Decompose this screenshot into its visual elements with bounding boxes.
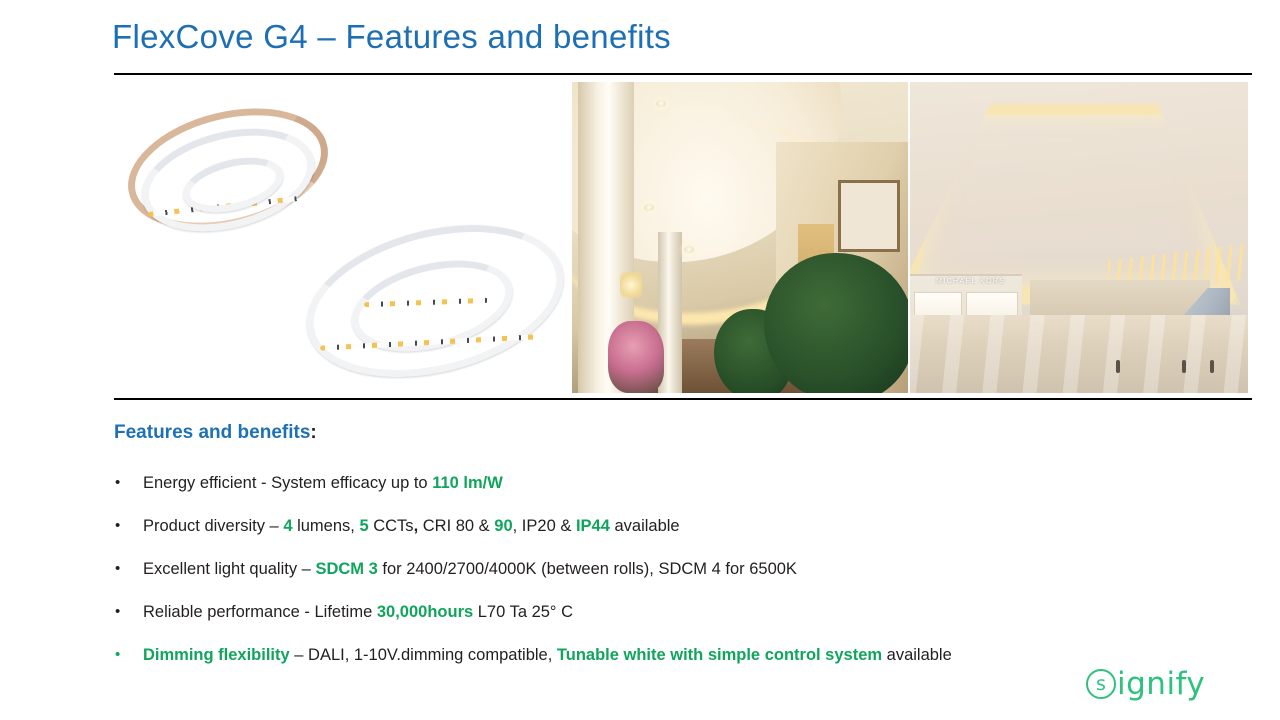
bullet-marker-icon: •: [115, 647, 120, 662]
signify-s-circle-icon: s: [1086, 669, 1116, 699]
feature-bullet-segment: Reliable performance - Lifetime: [143, 603, 377, 621]
feature-bullet-item: •Energy efficient - System efficacy up t…: [110, 474, 1240, 517]
page-title: FlexCove G4 – Features and benefits: [112, 18, 671, 56]
features-bullet-list: •Energy efficient - System efficacy up t…: [110, 474, 1240, 689]
feature-bullet-segment: 110 lm/W: [432, 474, 503, 492]
feature-bullet-segment: available: [610, 517, 680, 535]
feature-bullet-segment: Product diversity –: [143, 517, 283, 535]
features-heading-colon: :: [310, 422, 316, 443]
bullet-marker-icon: •: [115, 475, 120, 490]
feature-bullet-segment: – DALI, 1-10V.dimming compatible,: [290, 646, 557, 664]
feature-bullet-segment: 4: [283, 517, 292, 535]
feature-bullet-segment: Tunable white with simple control system: [557, 646, 882, 664]
feature-bullet-segment: , IP20 &: [513, 517, 576, 535]
feature-bullet-segment: SDCM 3: [315, 560, 377, 578]
feature-bullet-segment: 30,000hours: [377, 603, 473, 621]
feature-bullet-item: •Dimming flexibility – DALI, 1-10V.dimmi…: [110, 646, 1240, 689]
bullet-marker-icon: •: [115, 518, 120, 533]
feature-bullet-segment: CCTs: [369, 517, 414, 535]
mall-signage-label: MICHAEL KORS: [936, 278, 1005, 285]
feature-bullet-segment: Energy efficient - System efficacy up to: [143, 474, 432, 492]
feature-bullet-text: Product diversity – 4 lumens, 5 CCTs, CR…: [143, 517, 680, 536]
feature-bullet-segment: available: [882, 646, 952, 664]
bullet-marker-icon: •: [115, 561, 120, 576]
feature-bullet-segment: CRI 80 &: [418, 517, 494, 535]
feature-bullet-segment: IP44: [576, 517, 610, 535]
feature-bullet-segment: Dimming flexibility: [143, 646, 290, 664]
features-heading: Features and benefits:: [114, 422, 317, 444]
feature-bullet-text: Reliable performance - Lifetime 30,000ho…: [143, 603, 573, 622]
feature-bullet-segment: lumens,: [293, 517, 360, 535]
feature-bullet-segment: Excellent light quality –: [143, 560, 315, 578]
feature-bullet-item: •Reliable performance - Lifetime 30,000h…: [110, 603, 1240, 646]
feature-bullet-text: Dimming flexibility – DALI, 1-10V.dimmin…: [143, 646, 952, 665]
divider-top: [114, 73, 1252, 75]
features-heading-text: Features and benefits: [114, 422, 310, 443]
signify-wordmark: ignify: [1117, 666, 1205, 702]
feature-bullet-segment: for 2400/2700/4000K (between rolls), SDC…: [378, 560, 797, 578]
bullet-marker-icon: •: [115, 604, 120, 619]
feature-bullet-text: Excellent light quality – SDCM 3 for 240…: [143, 560, 797, 579]
feature-bullet-segment: 90: [494, 517, 512, 535]
signify-logo: s ignify: [1086, 663, 1205, 705]
divider-middle: [114, 398, 1252, 400]
feature-bullet-segment: L70 Ta 25° C: [473, 603, 573, 621]
feature-bullet-item: •Excellent light quality – SDCM 3 for 24…: [110, 560, 1240, 603]
image-led-flex-strip-coils: [114, 82, 566, 393]
feature-bullet-item: •Product diversity – 4 lumens, 5 CCTs, C…: [110, 517, 1240, 560]
image-band: MICHAEL KORS: [114, 82, 1248, 393]
feature-bullet-text: Energy efficient - System efficacy up to…: [143, 474, 503, 493]
image-shopping-mall-triangular-cove: MICHAEL KORS: [910, 82, 1248, 393]
feature-bullet-segment: 5: [359, 517, 368, 535]
image-hotel-corridor-cove-lighting: [572, 82, 908, 393]
